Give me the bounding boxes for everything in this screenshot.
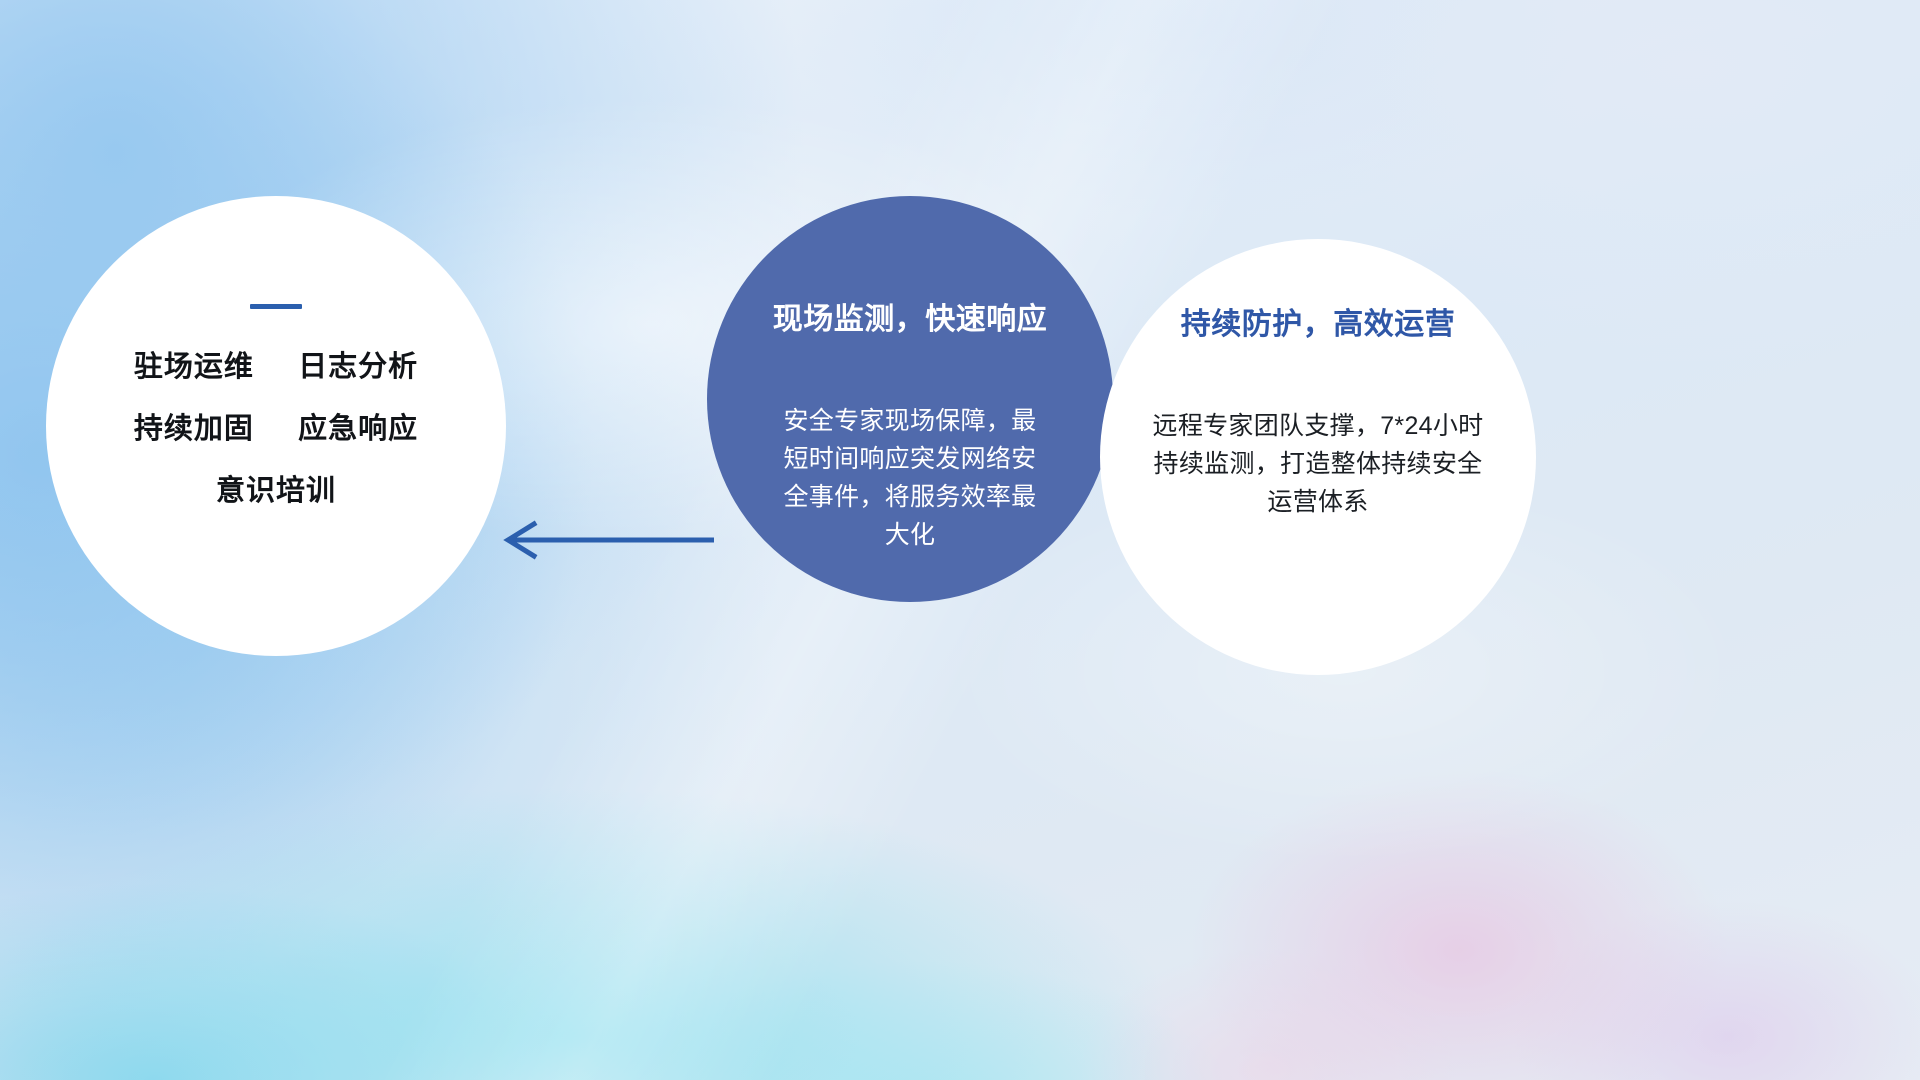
left-circle-item-1: 驻场运维: [134, 351, 254, 383]
right-circle-title: 持续防护，高效运营: [1181, 299, 1456, 343]
left-circle-item-5: 意识培训: [216, 475, 336, 507]
mid-circle-body: 安全专家现场保障，最短时间响应突发网络安全事件，将服务效率最大化: [772, 402, 1048, 554]
left-circle-item-3: 持续加固: [134, 413, 254, 445]
left-circle-service-capabilities: 驻场运维 日志分析 持续加固 应急响应 意识培训: [46, 196, 506, 656]
left-circle-item-4: 应急响应: [298, 413, 418, 445]
left-circle-line-2: 持续加固 应急响应: [134, 415, 418, 444]
right-circle-content: 持续防护，高效运营 远程专家团队支撑，7*24小时持续监测，打造整体持续安全运营…: [1100, 239, 1536, 675]
right-circle-body: 远程专家团队支撑，7*24小时持续监测，打造整体持续安全运营体系: [1148, 407, 1488, 521]
mid-circle-onsite-monitoring: 现场监测，快速响应 安全专家现场保障，最短时间响应突发网络安全事件，将服务效率最…: [707, 196, 1113, 602]
mid-circle-content: 现场监测，快速响应 安全专家现场保障，最短时间响应突发网络安全事件，将服务效率最…: [707, 196, 1113, 602]
left-circle-line-3: 意识培训: [216, 477, 336, 506]
mid-circle-title: 现场监测，快速响应: [773, 294, 1048, 338]
blue-divider-icon: [250, 304, 302, 309]
left-circle-content: 驻场运维 日志分析 持续加固 应急响应 意识培训: [46, 196, 506, 656]
right-circle-continuous-protection: 持续防护，高效运营 远程专家团队支撑，7*24小时持续监测，打造整体持续安全运营…: [1100, 239, 1536, 675]
left-circle-line-1: 驻场运维 日志分析: [134, 353, 418, 382]
left-circle-item-2: 日志分析: [298, 351, 418, 383]
left-pointing-arrow-icon: [488, 512, 714, 568]
